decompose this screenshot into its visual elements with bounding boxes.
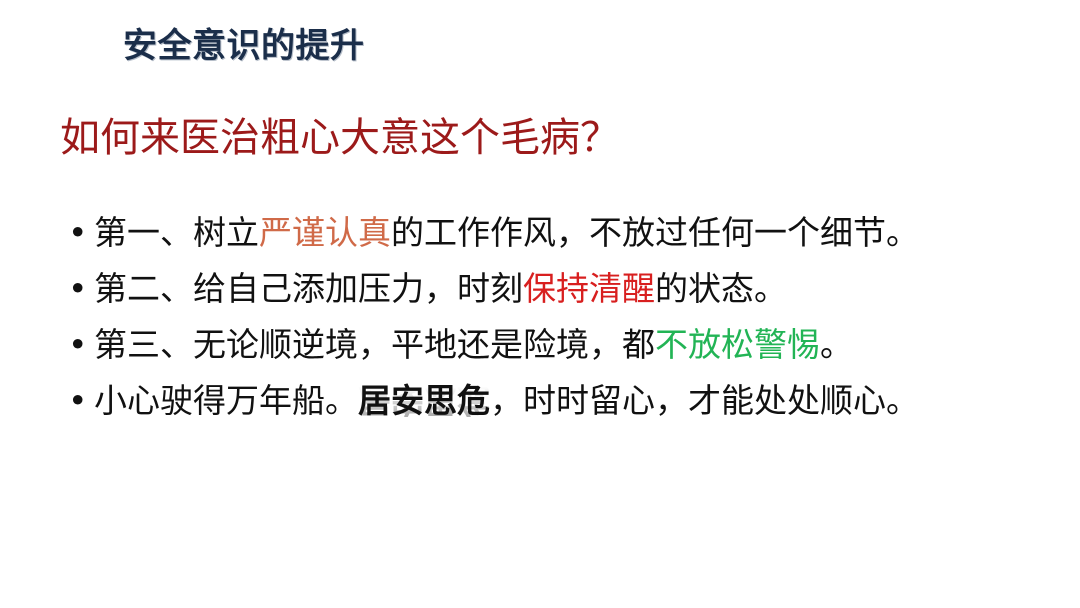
list-item: • 第三、无论顺逆境，平地还是险境，都不放松警惕。 <box>62 319 1022 371</box>
bullet-2-segment-plain-a: 第二、给自己添加压力，时刻 <box>94 269 523 308</box>
list-item: • 第二、给自己添加压力，时刻保持清醒的状态。 <box>62 263 1022 315</box>
bullet-3-segment-plain-a: 第三、无论顺逆境，平地还是险境，都 <box>94 325 655 364</box>
bullet-1-segment-plain-a: 第一、树立 <box>94 213 259 252</box>
bullet-marker-icon: • <box>68 319 100 371</box>
bullet-marker-icon: • <box>68 263 100 315</box>
slide-canvas: 安全意识的提升 如何来医治粗心大意这个毛病？ • 第一、树立严谨认真的工作作风，… <box>0 0 1080 608</box>
bullet-4-emphasis-bold: 居安思危 <box>358 381 490 420</box>
bullet-3-highlight-green: 不放松警惕 <box>655 325 820 364</box>
reflected-phrase-wrap: 居安思危居安思危 <box>358 375 490 427</box>
section-question-heading: 如何来医治粗心大意这个毛病？ <box>60 113 620 164</box>
bullet-1-highlight-orange: 严谨认真 <box>259 213 391 252</box>
bullet-list: • 第一、树立严谨认真的工作作风，不放过任何一个细节。 • 第二、给自己添加压力… <box>62 207 1022 431</box>
bullet-marker-icon: • <box>68 207 100 259</box>
bullet-3-segment-plain-b: 。 <box>820 325 853 364</box>
bullet-4-segment-plain-b: ，时时留心，才能处处顺心。 <box>490 381 919 420</box>
bullet-marker-icon: • <box>68 375 100 427</box>
list-item-text: 第二、给自己添加压力，时刻保持清醒的状态。 <box>94 263 1022 315</box>
list-item: • 第一、树立严谨认真的工作作风，不放过任何一个细节。 <box>62 207 1022 259</box>
slide-title: 安全意识的提升 <box>123 25 365 68</box>
bullet-4-segment-plain-a: 小心驶得万年船。 <box>94 381 358 420</box>
bullet-2-segment-plain-b: 的状态。 <box>655 269 787 308</box>
list-item: • 小心驶得万年船。居安思危居安思危，时时留心，才能处处顺心。 <box>62 375 1022 427</box>
bullet-2-highlight-red: 保持清醒 <box>523 269 655 308</box>
list-item-text: 第三、无论顺逆境，平地还是险境，都不放松警惕。 <box>94 319 1022 371</box>
list-item-text: 小心驶得万年船。居安思危居安思危，时时留心，才能处处顺心。 <box>94 375 1022 427</box>
bullet-1-segment-plain-b: 的工作作风，不放过任何一个细节。 <box>391 213 919 252</box>
list-item-text: 第一、树立严谨认真的工作作风，不放过任何一个细节。 <box>94 207 1022 259</box>
